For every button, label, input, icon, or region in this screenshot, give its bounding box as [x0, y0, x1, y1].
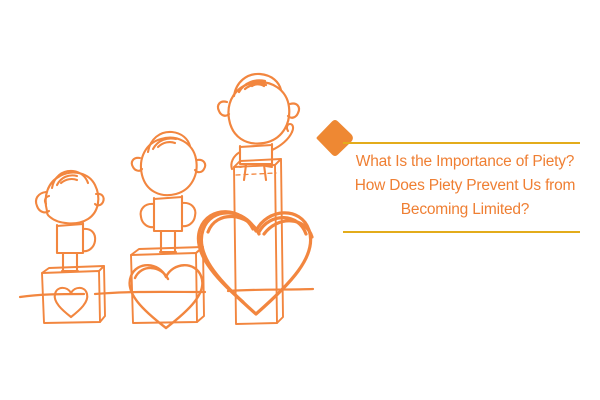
child-small-heart — [55, 288, 88, 317]
banner-canvas: What Is the Importance of Piety? How Doe… — [0, 0, 600, 400]
headline-line-2: How Does Piety Prevent Us from — [340, 174, 590, 198]
headline-line-3: Becoming Limited? — [340, 198, 590, 222]
headline-text: What Is the Importance of Piety? How Doe… — [340, 150, 590, 222]
child-medium-body — [141, 196, 196, 252]
figure-child-tall — [198, 74, 312, 324]
headline-rule-top — [343, 142, 580, 144]
headline-callout: What Is the Importance of Piety? How Doe… — [310, 110, 600, 250]
sketch-illustration-svg — [0, 0, 340, 400]
figure-child-small — [36, 171, 105, 323]
child-medium-heart — [130, 265, 203, 328]
child-small-head — [36, 171, 104, 223]
child-small-body — [57, 223, 95, 271]
child-tall-head — [218, 74, 299, 144]
child-medium-pedestal — [131, 247, 204, 323]
child-medium-head — [132, 132, 205, 195]
headline-rule-bottom — [343, 231, 580, 233]
ground-line — [20, 289, 313, 297]
child-tall-heart — [198, 212, 312, 314]
child-tall-body — [231, 124, 293, 180]
headline-line-1: What Is the Importance of Piety? — [340, 150, 590, 174]
illustration-three-children-with-hearts — [0, 0, 340, 400]
figure-child-medium — [130, 132, 206, 328]
